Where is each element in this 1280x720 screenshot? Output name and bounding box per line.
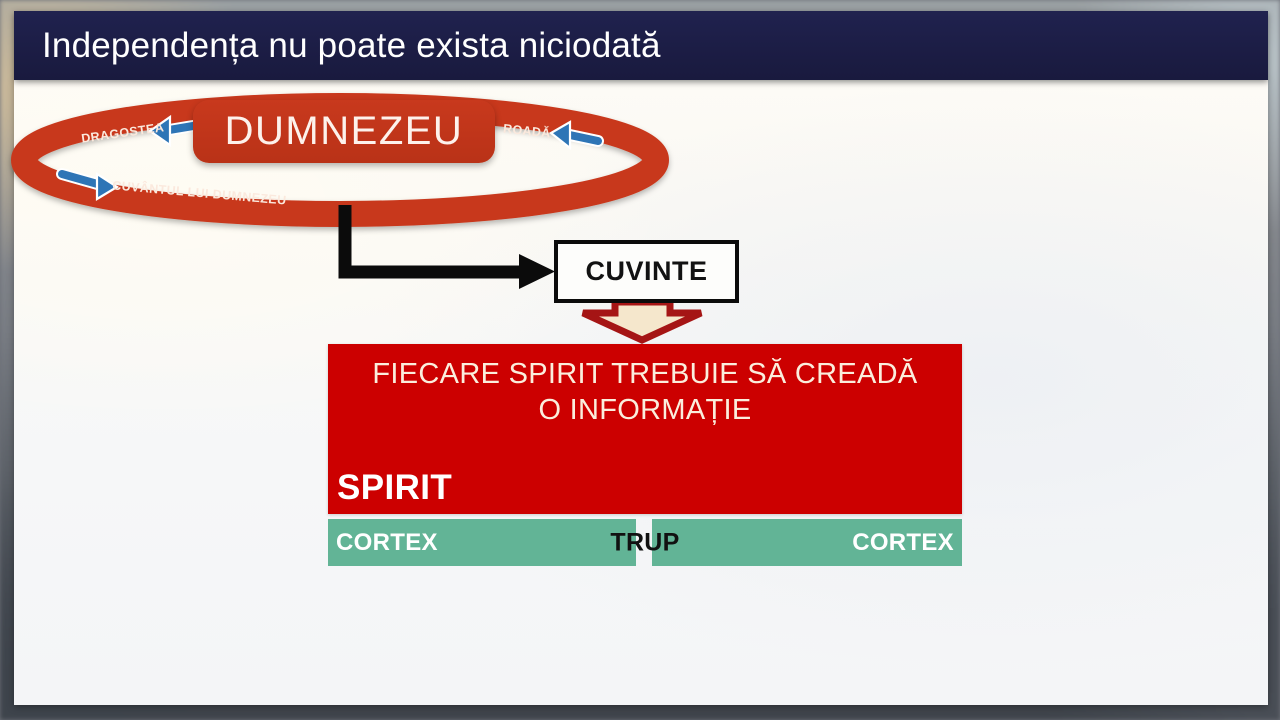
body-bar-label-trup: TRUP — [610, 528, 679, 557]
body-bar-label-cortex-right: CORTEX — [852, 529, 954, 557]
spirit-panel[interactable]: FIECARE SPIRIT TREBUIE SĂ CREADĂ O INFOR… — [328, 344, 962, 514]
god-box[interactable]: DUMNEZEU — [193, 100, 495, 163]
spirit-panel-line-1: FIECARE SPIRIT TREBUIE SĂ CREADĂ — [328, 356, 962, 392]
spirit-panel-statement: FIECARE SPIRIT TREBUIE SĂ CREADĂ O INFOR… — [328, 356, 962, 428]
spirit-panel-label: SPIRIT — [337, 468, 452, 508]
body-bar[interactable]: CORTEX TRUP CORTEX — [328, 519, 962, 566]
down-arrow-icon — [583, 302, 701, 340]
spirit-panel-line-2: O INFORMAȚIE — [328, 392, 962, 428]
diagram-canvas: DRAGOSTEA ROADĂ CUVÂNTUL LUI DUMNEZEU DU… — [0, 0, 1280, 720]
slide-stage: Independența nu poate exista niciodată — [0, 0, 1280, 720]
body-bar-label-cortex-left: CORTEX — [336, 529, 438, 557]
words-box-label: CUVINTE — [585, 256, 707, 287]
god-box-label: DUMNEZEU — [225, 109, 464, 154]
words-box[interactable]: CUVINTE — [554, 240, 739, 303]
